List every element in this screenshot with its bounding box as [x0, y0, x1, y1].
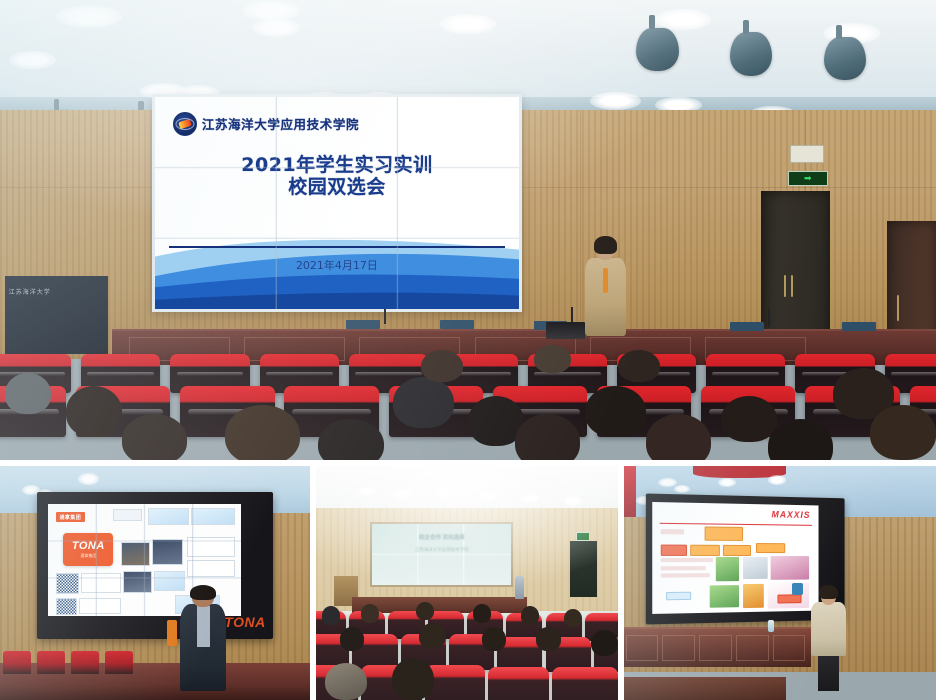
presenter — [584, 239, 627, 336]
slide-title: 2021年学生实习实训 校园双选会 — [155, 154, 520, 198]
slide-date: 2021年4月17日 — [155, 257, 520, 273]
desk-nameplate — [346, 320, 380, 329]
audience-head — [521, 606, 539, 625]
audience-head — [66, 386, 122, 437]
ceiling-light-icon — [658, 478, 677, 487]
desk-microphone-icon — [768, 308, 770, 326]
water-bottle — [768, 620, 774, 632]
company-logo-subtext: 通拿集团 — [80, 553, 96, 559]
audience-head — [325, 663, 367, 700]
presenter — [180, 588, 227, 691]
chair — [71, 651, 99, 674]
audience-head — [585, 386, 646, 437]
exit-door-main — [761, 191, 830, 343]
audience-head — [482, 627, 506, 650]
slide-subtitle: 江苏海洋大学应用技术学院 — [372, 547, 511, 553]
audience-head — [536, 627, 560, 650]
slide-divider — [169, 246, 504, 248]
presenter — [515, 576, 524, 599]
ceiling-light-icon — [768, 475, 787, 484]
slide-title-line1: 2021年学生实习实训 — [241, 154, 432, 176]
ceiling-light-icon — [56, 5, 122, 28]
exit-sign — [576, 532, 590, 541]
company-logo-maxxis: MAXXIS — [771, 510, 810, 521]
chair — [37, 651, 65, 674]
company-logo-tona: TONA 通拿集团 — [63, 533, 113, 567]
audience-head — [419, 623, 446, 649]
audience-head — [392, 658, 434, 700]
audience-head — [473, 604, 491, 623]
ceiling-light-icon — [253, 18, 300, 36]
company-watermark: TONA — [224, 614, 265, 630]
stage-spotlight-icon — [730, 32, 772, 76]
ceiling-light-icon — [564, 496, 582, 505]
presentation-screen: 江苏海洋大学应用技术学院 2021年学生实习实训 校园双选会 2021年4月17… — [152, 94, 523, 313]
photo-panel-bottom-left: 通拿集团 TONA 通拿集团 — [0, 466, 310, 700]
audience-head — [122, 414, 188, 460]
audience-head — [721, 396, 777, 442]
stage-table — [624, 627, 811, 666]
desk-nameplate — [440, 320, 474, 329]
chair — [105, 651, 133, 674]
ceiling-light-icon — [437, 489, 455, 498]
floor — [624, 677, 786, 700]
audience-head — [5, 373, 52, 414]
audience-head — [340, 627, 364, 650]
presenter — [811, 588, 845, 691]
desk-nameplate — [842, 322, 876, 331]
audience-head — [870, 405, 936, 460]
university-crest-icon — [173, 112, 197, 136]
audience-head — [416, 602, 434, 621]
laptop — [546, 322, 585, 339]
ceiling-light-icon — [9, 51, 56, 69]
audience-head — [225, 405, 300, 460]
handheld-microphone-icon — [603, 268, 608, 293]
wall-control-box — [790, 145, 824, 163]
slide-title-line2: 校园双选会 — [155, 176, 520, 198]
slide-divider — [659, 523, 812, 526]
photo-panel-bottom-middle: 校企合作 双向选择 江苏海洋大学应用技术学院 — [316, 466, 618, 700]
company-logo-text: TONA — [72, 540, 105, 552]
podium: 江苏海洋大学 — [5, 276, 108, 354]
exit-door — [570, 541, 597, 597]
photo-collage: 江苏海洋大学应用技术学院 2021年学生实习实训 校园双选会 2021年4月17… — [0, 0, 936, 700]
slide-content: MAXXIS — [652, 502, 818, 615]
ceiling-light-icon — [395, 489, 413, 498]
handheld-microphone-icon — [167, 620, 176, 646]
audience-head — [618, 350, 660, 382]
audience-head — [361, 604, 379, 623]
desk-nameplate — [730, 322, 764, 331]
exit-sign: ➡ — [788, 171, 827, 186]
handheld-microphone-icon — [792, 583, 803, 595]
ceiling-light-icon — [78, 473, 100, 485]
chair — [3, 651, 31, 674]
led-video-wall: 通拿集团 TONA 通拿集团 — [37, 492, 273, 639]
audience-head — [534, 345, 571, 373]
photo-panel-top: 江苏海洋大学应用技术学院 2021年学生实习实训 校园双选会 2021年4月17… — [0, 0, 936, 460]
ceiling-light-icon — [655, 9, 711, 30]
stage-spotlight-icon — [824, 37, 866, 81]
slide-tag: 通拿集团 — [56, 512, 86, 522]
audience-head — [591, 630, 618, 656]
slide-title: 校企合作 双向选择 — [372, 533, 511, 541]
red-banner — [624, 466, 636, 517]
audience-head — [322, 606, 340, 625]
ceiling-light-icon — [674, 485, 690, 493]
stage-spotlight-icon — [636, 28, 678, 72]
presentation-screen: 校企合作 双向选择 江苏海洋大学应用技术学院 — [370, 522, 513, 587]
exit-arrow-icon: ➡ — [804, 174, 812, 183]
slide-header: 江苏海洋大学应用技术学院 — [173, 112, 359, 136]
photo-panel-bottom-right: MAXXIS — [624, 466, 936, 700]
university-name: 江苏海洋大学应用技术学院 — [202, 114, 359, 133]
podium-label: 江苏海洋大学 — [9, 287, 51, 296]
audience-head — [421, 350, 463, 382]
audience-head — [564, 609, 582, 628]
audience-head — [393, 377, 454, 428]
